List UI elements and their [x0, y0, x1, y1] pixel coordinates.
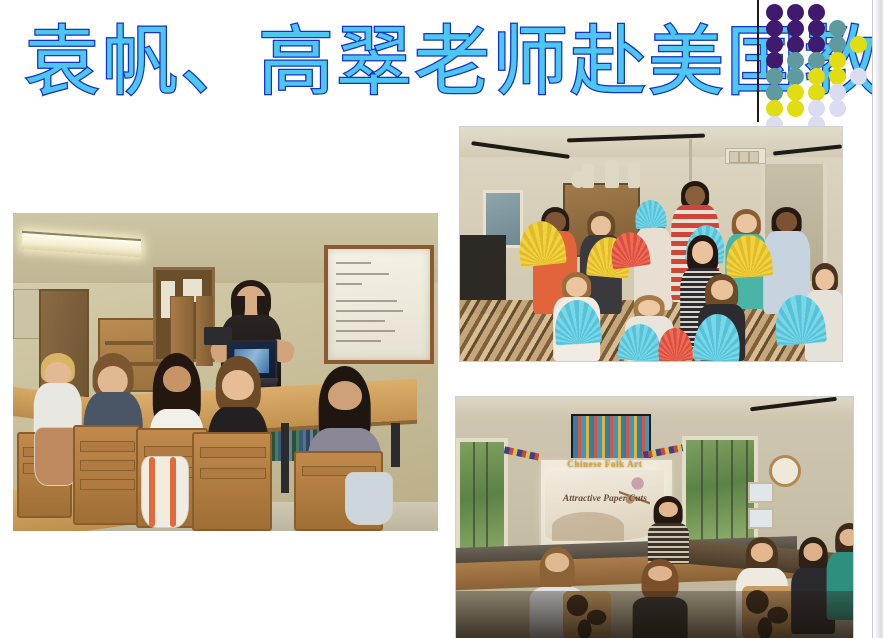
whiteboard	[324, 245, 434, 364]
window	[682, 436, 757, 546]
framed-picture	[748, 482, 774, 503]
decorative-dot	[829, 100, 846, 117]
decorative-dot	[766, 20, 783, 37]
decorative-dot	[787, 52, 804, 69]
decorative-dot-grid	[766, 4, 884, 136]
decorative-dot	[787, 68, 804, 85]
decorative-dot	[766, 52, 783, 69]
decorative-dot	[829, 36, 846, 53]
decorative-dot	[850, 68, 867, 85]
backpack	[141, 456, 190, 528]
decorative-dot	[808, 52, 825, 69]
page-right-edge	[872, 0, 884, 638]
decorative-dot	[808, 84, 825, 101]
decorative-dot	[808, 100, 825, 117]
decorative-dot	[829, 84, 846, 101]
wall-vent	[725, 148, 765, 164]
presenter-figure	[647, 496, 691, 564]
decorative-dot	[808, 4, 825, 21]
decorative-dot	[766, 84, 783, 101]
photo-paper-cutting-class: Chinese Folk Art Attractive Paper Cuts	[455, 396, 854, 638]
wall-poster	[571, 414, 650, 462]
chair	[73, 425, 141, 524]
presentation-slide: 袁帆、高翠老师赴美国教学	[0, 0, 884, 638]
page-border-line	[872, 0, 873, 638]
vertical-divider-line	[757, 0, 759, 122]
slide-title-block: 袁帆、高翠老师赴美国教学	[24, 8, 784, 120]
page-title: 袁帆、高翠老师赴美国教学	[24, 8, 784, 116]
decorative-dot	[766, 36, 783, 53]
photo-group-with-fans	[459, 126, 843, 362]
decorative-dot	[766, 100, 783, 117]
projector-title-text: Chinese Folk Art	[539, 459, 670, 469]
decorative-dot	[787, 4, 804, 21]
decorative-dot	[829, 68, 846, 85]
decorative-dot	[787, 36, 804, 53]
decorative-dot	[766, 4, 783, 21]
decorative-dot	[808, 20, 825, 37]
framed-picture	[748, 508, 774, 529]
chair	[192, 432, 273, 531]
decorative-dot	[808, 36, 825, 53]
decorative-dot	[787, 20, 804, 37]
tote-bag	[345, 472, 394, 525]
photo-classroom-lesson	[13, 213, 438, 531]
decorative-dot	[766, 68, 783, 85]
decorative-dot	[850, 36, 867, 53]
decorative-dot	[787, 100, 804, 117]
decorative-dot	[829, 20, 846, 37]
decorative-dot	[808, 68, 825, 85]
decorative-dot	[829, 52, 846, 69]
decorative-dot	[787, 84, 804, 101]
